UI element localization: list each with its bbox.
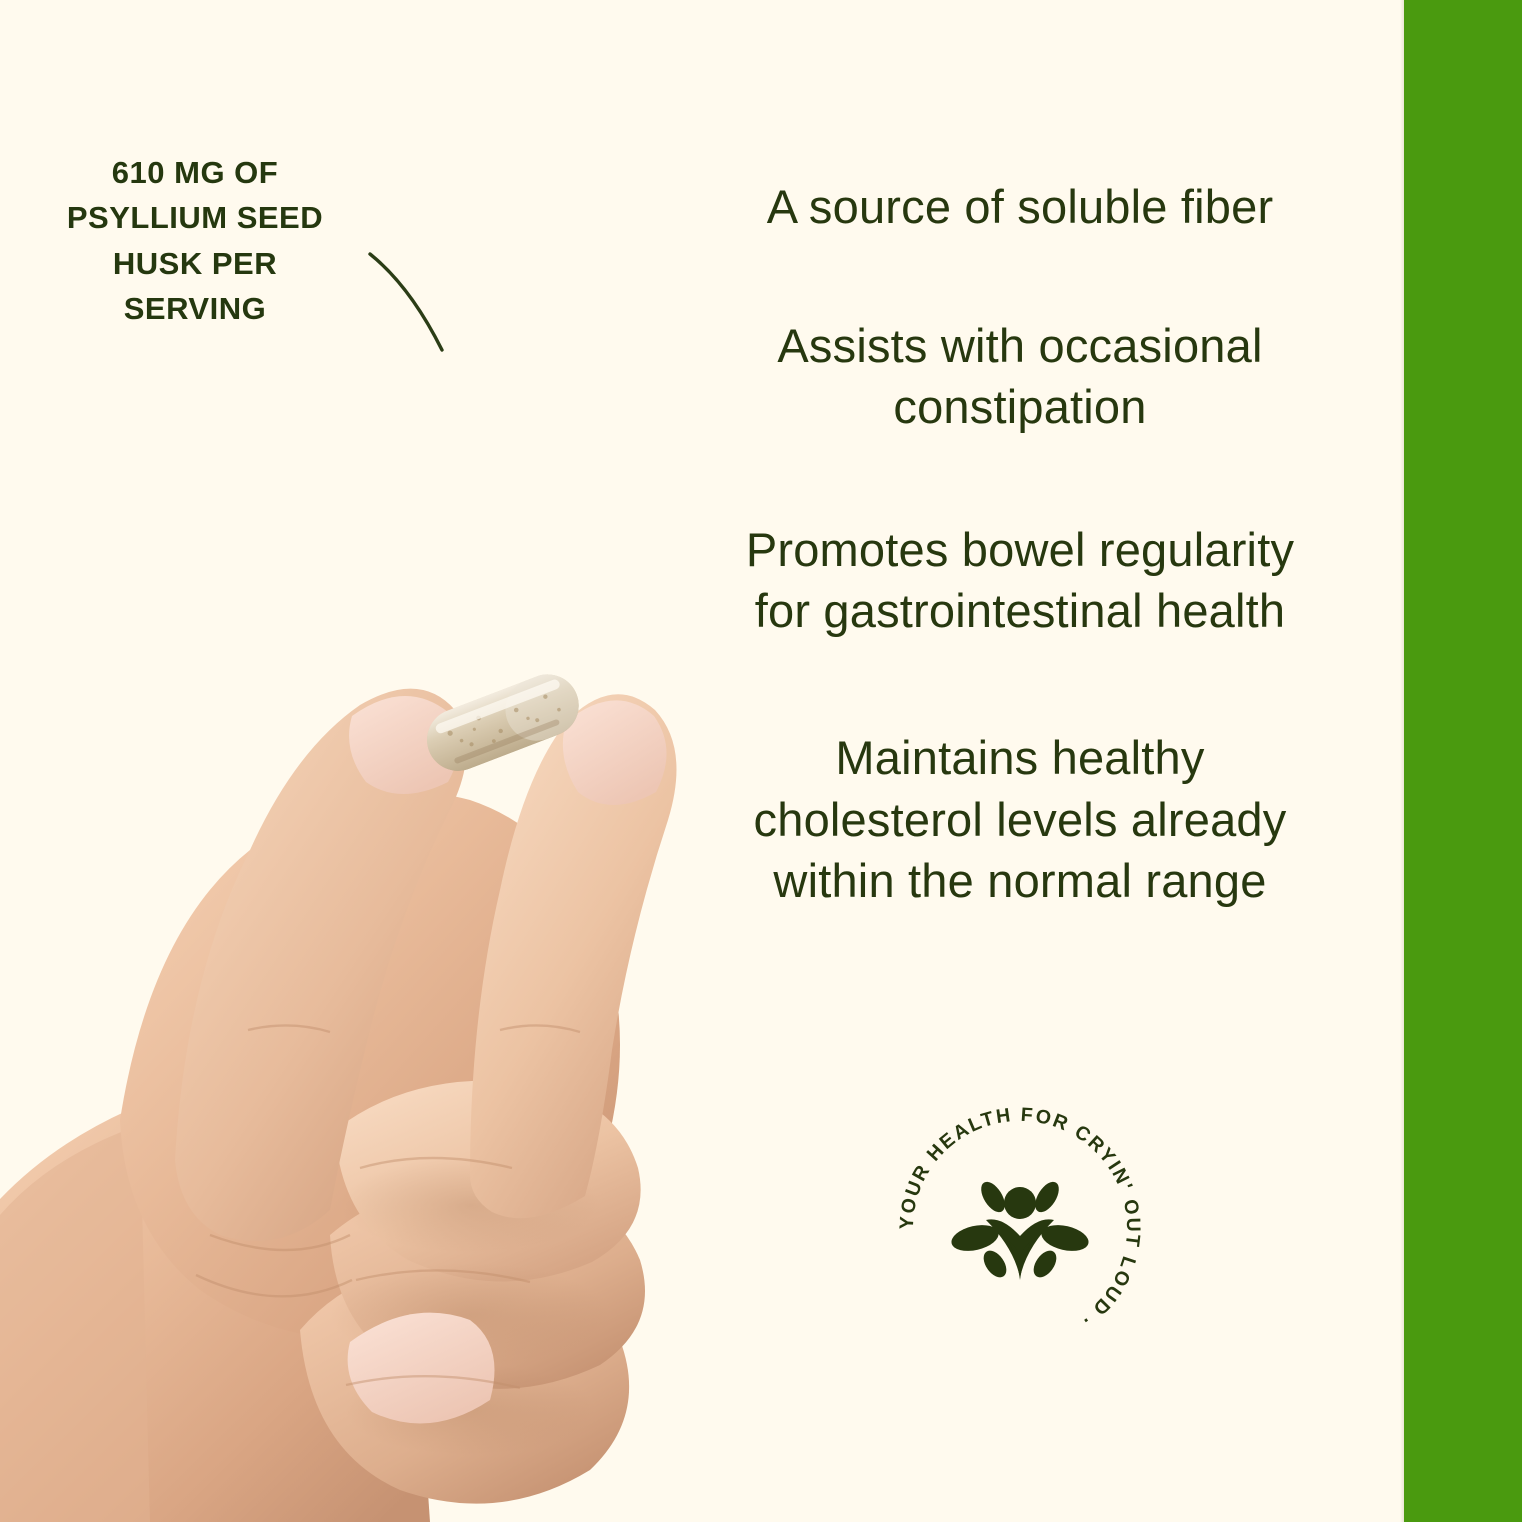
benefit-line: cholesterol levels already xyxy=(700,789,1340,850)
green-accent-band xyxy=(1404,0,1522,1522)
benefit-item: Assists with occasional constipation xyxy=(700,315,1340,437)
product-benefits-graphic: 610 MG OF PSYLLIUM SEED HUSK PER SERVING… xyxy=(0,0,1522,1522)
dosage-callout: 610 MG OF PSYLLIUM SEED HUSK PER SERVING xyxy=(42,150,348,331)
benefits-list: A source of soluble fiber Assists with o… xyxy=(700,176,1340,911)
benefit-line: Promotes bowel regularity xyxy=(700,519,1340,580)
callout-line-4: SERVING xyxy=(42,286,348,331)
benefit-item: Maintains healthy cholesterol levels alr… xyxy=(700,727,1340,910)
callout-line-3: HUSK PER xyxy=(42,241,348,286)
callout-line-1: 610 MG OF xyxy=(42,150,348,195)
index-finger-nail xyxy=(563,700,667,805)
benefit-line: Maintains healthy xyxy=(700,727,1340,788)
benefit-line: constipation xyxy=(700,376,1340,437)
benefit-line: within the normal range xyxy=(700,850,1340,911)
benefit-line: Assists with occasional xyxy=(700,315,1340,376)
benefit-item: Promotes bowel regularity for gastrointe… xyxy=(700,519,1340,641)
callout-pointer-line xyxy=(352,238,472,368)
plant-person-logo xyxy=(949,1178,1091,1282)
benefit-item: A source of soluble fiber xyxy=(700,176,1340,237)
brand-seal: IT'S FOR YOUR HEALTH FOR CRYIN' OUT LOUD… xyxy=(890,1098,1150,1358)
benefit-line: A source of soluble fiber xyxy=(700,176,1340,237)
hand-holding-capsule-photo xyxy=(0,330,700,1522)
benefit-line: for gastrointestinal health xyxy=(700,580,1340,641)
callout-line-2: PSYLLIUM SEED xyxy=(42,195,348,240)
